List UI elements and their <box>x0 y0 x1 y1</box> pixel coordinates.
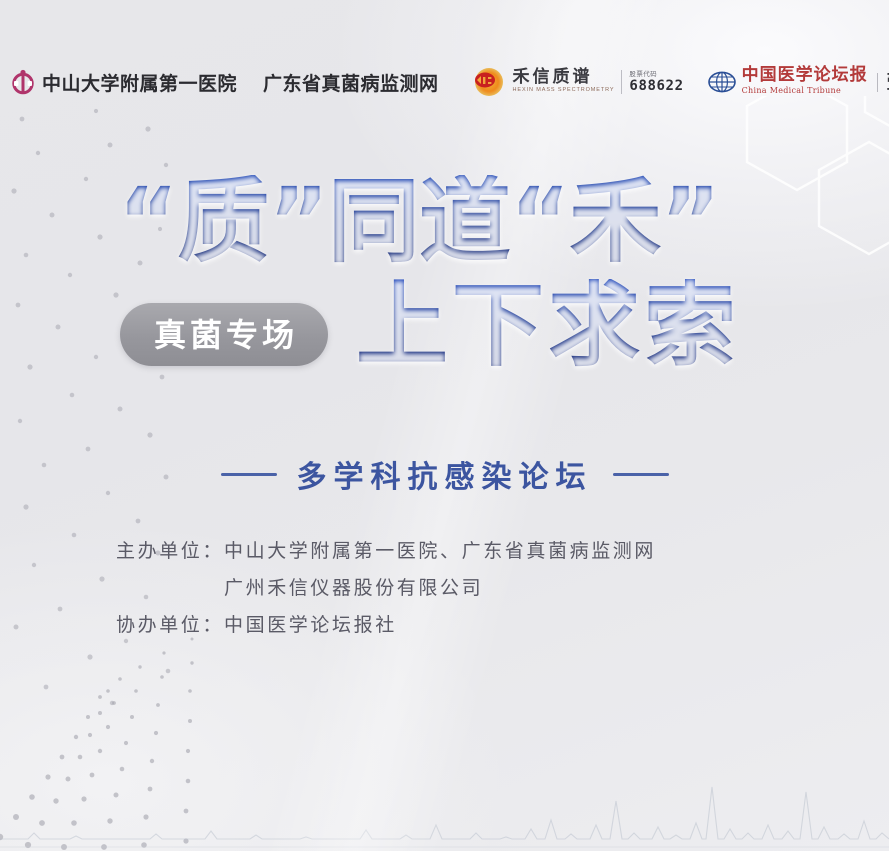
hexin-cn-label: 禾信质谱 <box>513 69 615 87</box>
organizer-line-1: 主办单位：中山大学附属第一医院、广东省真菌病监测网 <box>0 533 889 570</box>
organizers-block: 主办单位：中山大学附属第一医院、广东省真菌病监测网 广州禾信仪器股份有限公司 协… <box>0 533 889 644</box>
sheen-overlay <box>0 0 889 851</box>
hexin-text-block: 禾信质谱 HEXIN MASS SPECTROMETRY <box>513 69 615 95</box>
logo-china-medical-tribune: 中国医学论坛报 China Medical Tribune 壹生 <box>708 67 889 97</box>
hexin-en-label: HEXIN MASS SPECTROMETRY <box>513 87 615 95</box>
poster-canvas: 中山大学附属第一医院 广东省真菌病监测网 禾信质谱 <box>0 0 889 851</box>
globe-icon <box>708 68 736 96</box>
hexin-sun-icon <box>471 67 507 97</box>
stock-code-value: 688622 <box>629 78 683 94</box>
title-line-1: “质”同道“禾” <box>0 175 889 269</box>
subtitle-text: 多学科抗感染论坛 <box>297 452 593 496</box>
cmt-text-block: 中国医学论坛报 China Medical Tribune <box>742 67 868 97</box>
logo-yisheng: 壹生 <box>877 73 889 92</box>
cmt-en-label: China Medical Tribune <box>742 85 868 97</box>
sysu-circle-icon <box>8 67 38 97</box>
logo-hexin-mass-spectrometry: 禾信质谱 HEXIN MASS SPECTROMETRY 股票代码 688622 <box>471 67 684 97</box>
header-logo-bar: 中山大学附属第一医院 广东省真菌病监测网 禾信质谱 <box>0 58 889 106</box>
stock-code-label: 股票代码 <box>629 70 683 78</box>
radial-dot-fan-decor <box>0 621 254 851</box>
subtitle-rule-right <box>613 473 669 476</box>
organizer-line-3: 协办单位：中国医学论坛报社 <box>0 607 889 644</box>
title-block: “质”同道“禾” 真菌专场 上下求索 <box>0 175 889 379</box>
logo-sysu-label: 中山大学附属第一医院 <box>42 69 237 96</box>
subtitle-rule-left <box>221 473 277 476</box>
organizer-line-2: 广州禾信仪器股份有限公司 <box>0 570 889 607</box>
session-badge: 真菌专场 <box>120 303 328 366</box>
cmt-cn-label: 中国医学论坛报 <box>742 67 868 85</box>
logo-sysu-first-hospital: 中山大学附属第一医院 广东省真菌病监测网 <box>8 67 439 97</box>
title-line-2: 上下求索 <box>356 279 740 373</box>
mass-spectrum-waveform-decor <box>0 721 889 851</box>
subtitle-block: 多学科抗感染论坛 <box>0 452 889 496</box>
title-row-2: 真菌专场 上下求索 <box>0 283 889 379</box>
hexin-stock-code: 股票代码 688622 <box>621 70 683 95</box>
logo-fungal-network-label: 广东省真菌病监测网 <box>263 69 439 96</box>
